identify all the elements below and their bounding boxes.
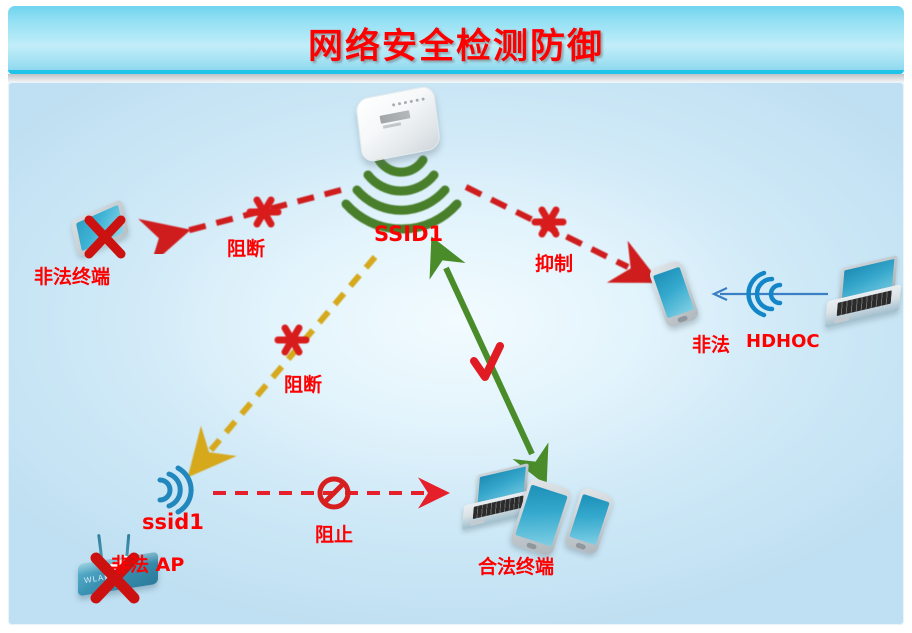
link-label-prevent: 阻止: [315, 520, 353, 547]
asterisk-icon-block-left: [250, 200, 278, 224]
link-adhoc-wireless: [714, 288, 828, 300]
smartphone-home-button: [677, 315, 688, 323]
title-banner: 网络安全检测防御: [8, 6, 904, 74]
tablet-screen: [76, 205, 124, 252]
wifi-signal-icon-adhoc: [749, 273, 780, 315]
rogue-ap-ssid-label: ssid1: [142, 510, 204, 534]
laptop-touchpad: [470, 518, 484, 526]
illegal-adhoc-label-suffix: HDHOC: [746, 331, 820, 352]
illegal-terminal-device[interactable]: [66, 204, 142, 260]
laptop-icon: [826, 262, 900, 320]
smartphone-screen: [653, 267, 694, 319]
tablet-icon: [71, 199, 130, 258]
diagram-screenshot: 网络安全检测防御: [0, 0, 912, 633]
link-block-rogue-ap: [211, 257, 375, 450]
smartphone-icon: [563, 486, 614, 555]
illegal-terminal-label: 非法终端: [34, 262, 110, 289]
link-label-block-left: 阻断: [227, 234, 265, 261]
legitimate-terminals-label: 合法终端: [478, 552, 554, 579]
wifi-signal-icon-ap: [346, 160, 457, 229]
link-label-block-rogue: 阻断: [284, 370, 322, 397]
link-block-illegal-terminal: [156, 190, 341, 239]
no-entry-icon: [320, 479, 348, 507]
smartphone-icon: [648, 259, 700, 329]
tablet-home-button: [526, 542, 537, 550]
link-allow-legitimate: [446, 268, 532, 454]
rogue-ap-label: 非法 AP: [111, 550, 184, 577]
ssid-label-ap: SSID1: [374, 222, 443, 246]
page-title: 网络安全检测防御: [8, 18, 904, 69]
check-icon-allow: [474, 346, 500, 377]
smartphone-screen: [569, 494, 610, 545]
diagram-canvas: SSID1 非法终端 阻断 抑制 阻断 阻止: [8, 82, 904, 625]
asterisk-icon-block-rogue: [278, 328, 306, 352]
access-point-device[interactable]: [352, 86, 444, 166]
asterisk-icon-suppress: [535, 210, 563, 234]
smartphone-home-button: [575, 542, 586, 550]
link-label-suppress: 抑制: [535, 249, 573, 276]
laptop-touchpad: [834, 315, 849, 324]
wifi-signal-icon-rogue-ap: [160, 468, 191, 512]
illegal-adhoc-label-prefix: 非法: [692, 330, 730, 357]
